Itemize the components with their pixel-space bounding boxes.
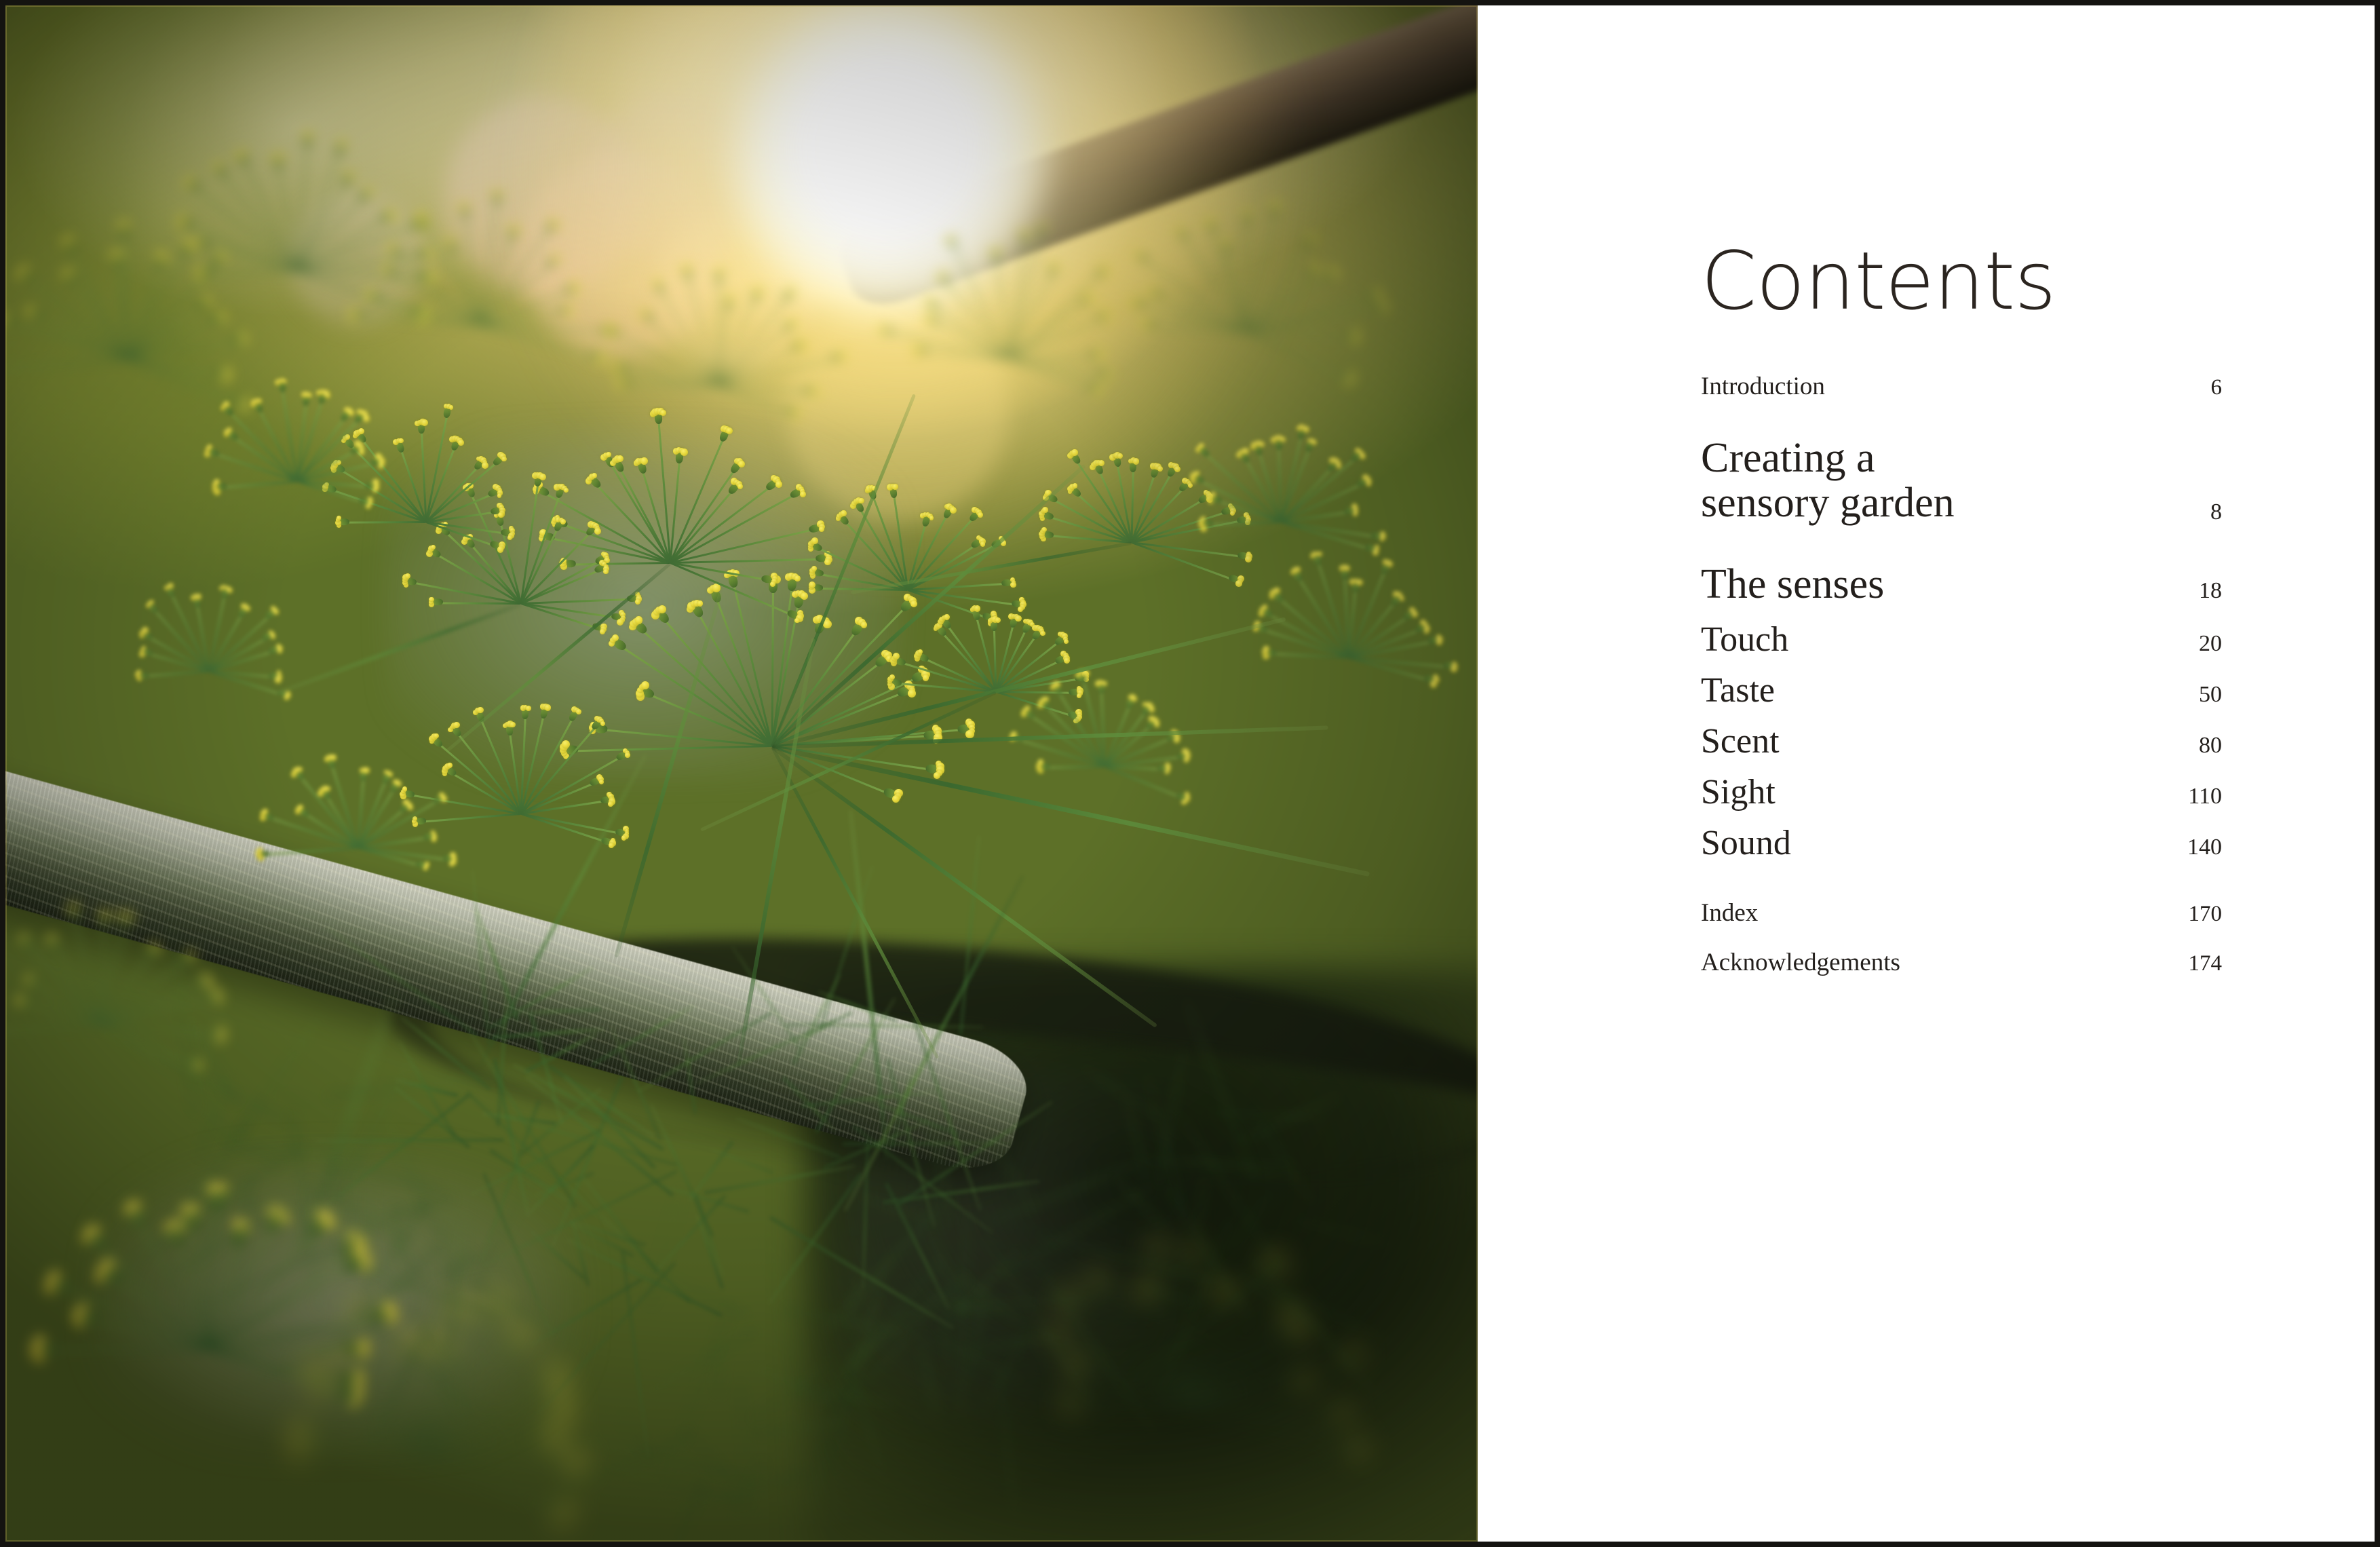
photo-vignette — [5, 5, 1478, 1542]
toc-row[interactable]: Introduction6 — [1701, 372, 2222, 401]
toc-entry-page-number: 140 — [2187, 835, 2222, 860]
book-spread: Contents Introduction6Creating asensory … — [0, 0, 2380, 1547]
toc-entry-page-number: 110 — [2188, 784, 2222, 809]
toc-row[interactable]: The senses18 — [1701, 560, 2222, 609]
toc-entry-label: Taste — [1701, 670, 1775, 710]
toc-entry-label: Index — [1701, 898, 1758, 928]
toc-entry-page-number: 18 — [2199, 578, 2222, 604]
toc-entry-label: Sound — [1701, 823, 1791, 863]
photo-page — [5, 5, 1478, 1542]
toc-row[interactable]: Acknowledgements174 — [1701, 948, 2222, 977]
toc-entry-label: Scent — [1701, 721, 1780, 761]
toc-row[interactable]: Sound140 — [1701, 823, 2222, 863]
toc-entry-label: The senses — [1701, 560, 1884, 609]
toc-entry-page-number: 8 — [2210, 499, 2222, 525]
toc-entry-page-number: 50 — [2199, 682, 2222, 708]
page-title: Contents — [1701, 241, 2056, 321]
toc-entry-page-number: 80 — [2199, 733, 2222, 759]
toc-row[interactable]: Creating asensory garden8 — [1701, 436, 2222, 525]
toc-entry-page-number: 6 — [2211, 375, 2223, 400]
toc-entry-label: Acknowledgements — [1701, 948, 1900, 977]
toc-row[interactable]: Sight110 — [1701, 772, 2222, 812]
toc-row[interactable]: Index170 — [1701, 898, 2222, 928]
table-of-contents-list: Introduction6Creating asensory garden8Th… — [1701, 372, 2222, 977]
toc-entry-label: Creating asensory garden — [1701, 436, 1955, 525]
toc-entry-page-number: 174 — [2189, 951, 2223, 976]
toc-row[interactable]: Touch20 — [1701, 619, 2222, 660]
toc-entry-page-number: 20 — [2199, 631, 2222, 657]
toc-entry-label: Sight — [1701, 772, 1776, 812]
toc-entry-label: Touch — [1701, 619, 1788, 660]
toc-row[interactable]: Taste50 — [1701, 670, 2222, 710]
toc-row[interactable]: Scent80 — [1701, 721, 2222, 761]
contents-page: Contents Introduction6Creating asensory … — [1478, 5, 2375, 1542]
toc-entry-label: Introduction — [1701, 372, 1825, 401]
toc-entry-page-number: 170 — [2189, 902, 2223, 927]
